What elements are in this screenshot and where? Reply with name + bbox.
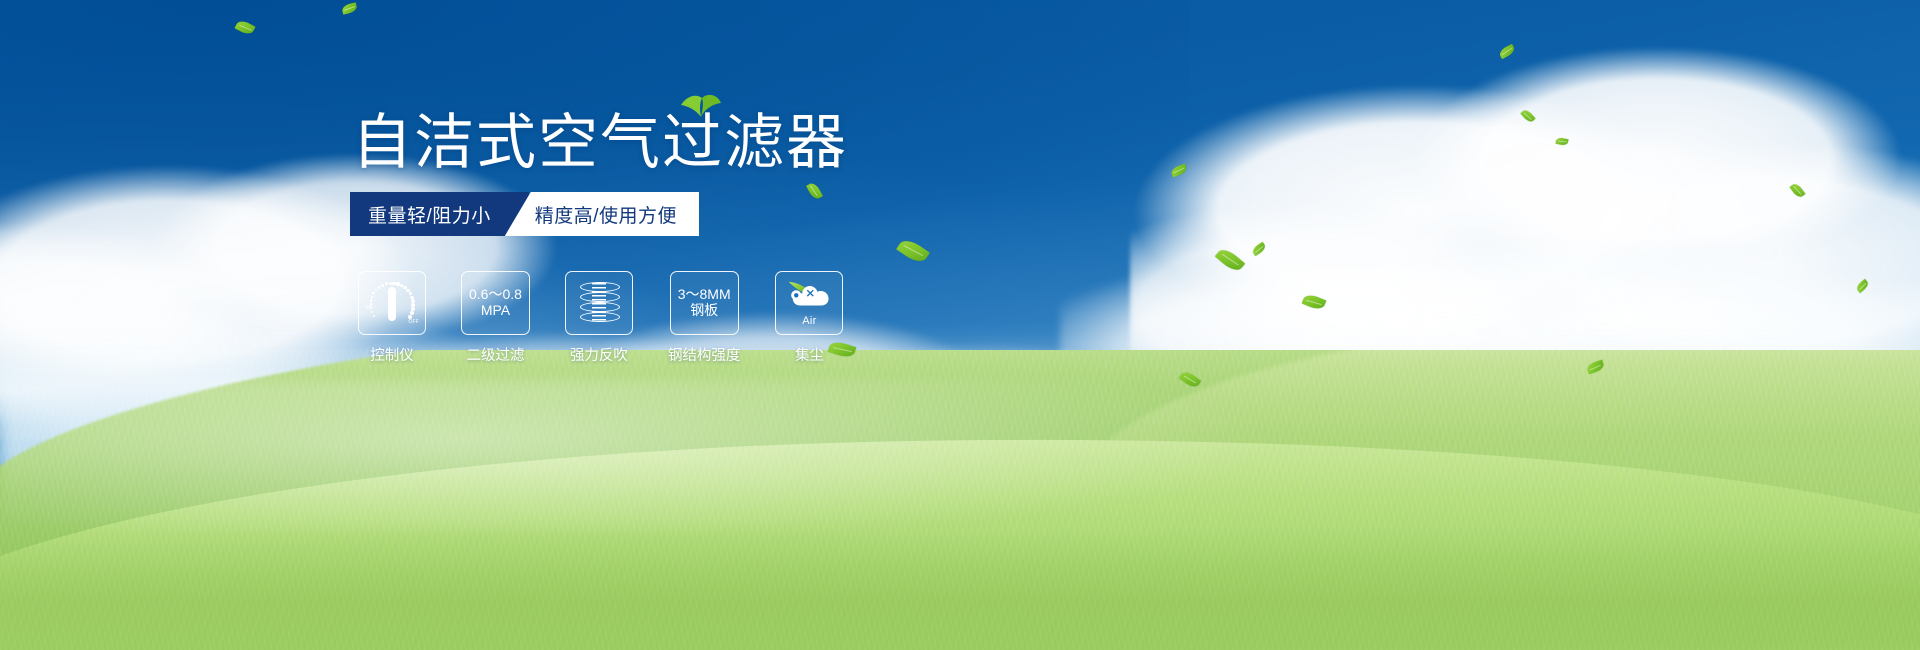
feature-icon-box: NO OFF [358,271,426,335]
grass-field [0,350,1920,650]
steel-plate-text-icon: 3〜8MM 钢板 [678,287,731,318]
feature-icon-box: 3〜8MM 钢板 [670,271,739,335]
tab-label: 精度高/使用方便 [535,201,677,228]
pressure-text-icon: 0.6〜0.8 MPA [469,287,522,318]
title-leaf-icon [680,92,722,118]
gauge-off-label: OFF [408,319,419,325]
gauge-tick [411,303,415,307]
gauge-tick [409,292,413,296]
gauge-no-label: NO [365,305,373,311]
gauge-tick [371,296,373,298]
feature-label: 集尘 [795,344,824,365]
feature-item-strong-blowback[interactable]: 强力反吹 [565,271,633,365]
grass-highlight [0,380,1920,530]
gauge-needle [388,287,396,321]
tab-precision-ease[interactable]: 精度高/使用方便 [505,192,699,236]
gauge-tick [370,299,372,301]
coil-ring [580,292,620,302]
gauge-tick [406,289,409,292]
page-title: 自洁式空气过滤器 [352,113,848,173]
steel-material: 钢板 [678,303,731,319]
grass-shading [0,530,1920,650]
gauge-icon: NO OFF [366,279,418,327]
gauge-tick [389,282,392,285]
coil-blowback-icon [579,281,619,325]
feature-icon-box: Air [775,271,843,335]
gauge-tick [410,311,414,315]
gauge-tick [372,292,375,295]
feature-item-controller[interactable]: NO OFF 控制仪 [358,271,426,365]
gauge-tick [408,315,412,319]
cloud-glyph [783,280,835,314]
feature-label: 二级过滤 [466,344,524,365]
feature-icon-row: NO OFF 控制仪 0.6〜0.8 MPA 二级过滤 [358,271,843,365]
gauge-tick [410,296,414,300]
feature-label: 控制仪 [370,344,414,365]
gauge-tick [378,286,381,289]
coil-ring [580,312,620,322]
coil-ring [580,282,620,292]
feature-tabs: 重量轻/阻力小 精度高/使用方便 [350,192,699,236]
tab-label: 重量轻/阻力小 [368,201,491,228]
gauge-tick [385,282,388,285]
feature-icon-box [565,271,633,335]
feature-label: 钢结构强度 [668,344,741,365]
gauge-tick [392,282,395,285]
gauge-tick [375,289,378,292]
gauge-tick [381,284,384,287]
feature-item-steel-strength[interactable]: 3〜8MM 钢板 钢结构强度 [668,271,741,365]
gauge-tick [371,311,373,313]
feature-item-two-stage-filter[interactable]: 0.6〜0.8 MPA 二级过滤 [461,271,530,365]
air-label: Air [783,315,835,327]
feature-label: 强力反吹 [570,344,628,365]
air-cloud-icon: Air [783,280,835,326]
feature-item-dust-collection[interactable]: Air 集尘 [775,271,843,365]
steel-thickness: 3〜8MM [678,287,731,303]
tab-weight-resistance[interactable]: 重量轻/阻力小 [350,192,529,236]
hero-banner: 自洁式空气过滤器 重量轻/阻力小 精度高/使用方便 NO OFF 控制仪 [0,0,1920,650]
feature-icon-box: 0.6〜0.8 MPA [461,271,530,335]
gauge-tick [411,307,415,311]
coil-ring [580,302,620,312]
pressure-range: 0.6〜0.8 [469,287,522,303]
gauge-tick [396,282,399,285]
gauge-tick [373,315,375,317]
pressure-unit: MPA [469,303,522,319]
